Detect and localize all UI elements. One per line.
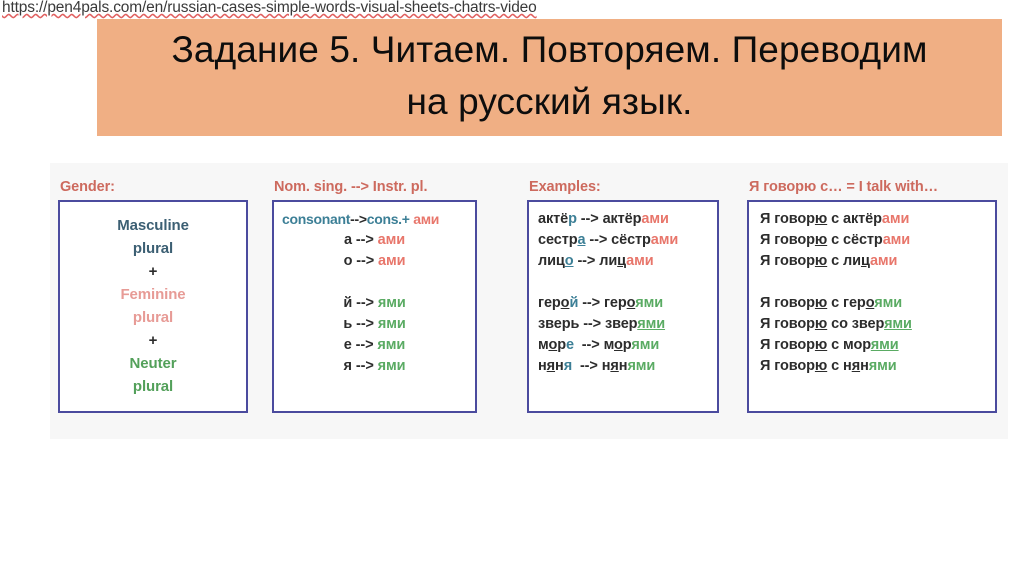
- example-row: актёр --> актёрами: [538, 209, 709, 230]
- gender-row: plural: [68, 237, 238, 260]
- sentence-noun-ending: ями: [884, 316, 912, 332]
- example-plural-stem: мор: [604, 337, 632, 353]
- example-arrow: -->: [580, 358, 598, 374]
- sentence-verb-stem: Я говор: [760, 232, 815, 248]
- sentence-verb-stem: Я говор: [760, 295, 815, 311]
- sentence-noun-ending: ями: [874, 295, 902, 311]
- grammar-columns: Gender: Masculine plural + Feminine plur…: [50, 163, 1008, 439]
- sentence-noun-stem: нян: [843, 358, 869, 374]
- example-row: герой --> героями: [538, 293, 709, 314]
- sentence-verb-ending: ю: [815, 358, 827, 374]
- ending-rule-spacer: [282, 272, 467, 293]
- sentence-noun-ending: ами: [883, 232, 910, 248]
- column-examples: Examples: актёр --> актёрами сестра --> …: [527, 179, 719, 413]
- sentence-row: Я говорю с сёстрами: [760, 230, 987, 251]
- sentence-noun-stem: лиц: [843, 253, 870, 269]
- example-singular-stem: актё: [538, 211, 568, 227]
- sentence-verb-stem: Я говор: [760, 253, 815, 269]
- ending-rule-arrow: -->: [356, 232, 374, 248]
- sentence-verb-ending: ю: [815, 316, 827, 332]
- example-plural-stem: геро: [604, 295, 635, 311]
- column-endings-header: Nom. sing. --> Instr. pl.: [272, 179, 477, 195]
- gender-row: Masculine: [68, 214, 238, 237]
- ending-rule-arrow: -->: [356, 295, 374, 311]
- example-singular-ending: о: [565, 253, 574, 269]
- ending-rule-row: а --> ами: [282, 230, 467, 251]
- ending-rule-arrow: -->: [350, 211, 367, 227]
- column-gender: Gender: Masculine plural + Feminine plur…: [58, 179, 248, 413]
- column-endings: Nom. sing. --> Instr. pl. consonant-->co…: [272, 179, 477, 413]
- column-endings-box: consonant-->cons.+ ами а --> ами о --> а…: [272, 200, 477, 413]
- ending-rule-ending: ями: [378, 358, 406, 374]
- ending-rule-arrow: -->: [356, 337, 374, 353]
- sentence-verb-stem: Я говор: [760, 358, 815, 374]
- page-url-text[interactable]: https://pen4pals.com/en/russian-cases-si…: [2, 0, 537, 17]
- sentence-noun-stem: сёстр: [843, 232, 883, 248]
- ending-rule-row: я --> ями: [282, 356, 467, 377]
- sentence-noun-stem: актёр: [843, 211, 882, 227]
- example-plural-ending: ями: [631, 337, 659, 353]
- slide-title-line-1: Задание 5. Читаем. Повторяем. Переводим: [171, 24, 927, 75]
- sentence-preposition: с: [827, 232, 843, 248]
- gender-row: plural: [68, 375, 238, 398]
- ending-rule-row: е --> ями: [282, 335, 467, 356]
- example-plural-ending: ями: [635, 295, 663, 311]
- ending-rule-ending: ями: [377, 337, 405, 353]
- gender-row: Feminine: [68, 283, 238, 306]
- column-sentences-header: Я говорю с… = I talk with…: [747, 179, 997, 195]
- example-singular-ending: я: [564, 358, 572, 374]
- gender-row: Neuter: [68, 352, 238, 375]
- ending-rule-ending: ями: [378, 316, 406, 332]
- example-singular-ending: е: [566, 337, 574, 353]
- example-arrow: -->: [589, 232, 607, 248]
- ending-rule-ending: ами: [378, 253, 405, 269]
- example-plural-stem: звер: [605, 316, 637, 332]
- sentence-noun-ending: ями: [869, 358, 897, 374]
- example-plural-ending: ями: [627, 358, 655, 374]
- example-plural-ending: ами: [651, 232, 678, 248]
- example-singular-stem: геро: [538, 295, 569, 311]
- example-plural-stem: нян: [602, 358, 628, 374]
- sentence-preposition: с: [827, 211, 843, 227]
- sentence-preposition: с: [827, 358, 843, 374]
- ending-rule-arrow: -->: [356, 358, 374, 374]
- column-examples-box: актёр --> актёрами сестра --> сёстрами л…: [527, 200, 719, 413]
- sentence-noun-ending: ами: [882, 211, 909, 227]
- ending-rule-stem: consonant: [282, 211, 350, 227]
- sentence-noun-ending: ями: [871, 337, 899, 353]
- ending-rule-stem: ь: [343, 316, 352, 332]
- sentence-noun-stem: геро: [843, 295, 874, 311]
- sentence-noun-stem: звер: [852, 316, 884, 332]
- sentence-row: Я говорю с лицами: [760, 251, 987, 272]
- grammar-sheet-panel: Gender: Masculine plural + Feminine plur…: [50, 163, 1008, 439]
- sentence-verb-stem: Я говор: [760, 316, 815, 332]
- example-arrow: -->: [582, 295, 600, 311]
- ending-rule-stem: е: [344, 337, 352, 353]
- ending-rule-stem: а: [344, 232, 352, 248]
- ending-rule-arrow: -->: [356, 316, 374, 332]
- slide-title-banner: Задание 5. Читаем. Повторяем. Переводим …: [97, 19, 1002, 136]
- sentence-noun-stem: мор: [843, 337, 871, 353]
- column-sentences: Я говорю с… = I talk with… Я говорю с ак…: [747, 179, 997, 413]
- sentence-verb-stem: Я говор: [760, 337, 815, 353]
- sentence-row: Я говорю с морями: [760, 335, 987, 356]
- example-row: няня --> нянями: [538, 356, 709, 377]
- sentence-row: Я говорю с героями: [760, 293, 987, 314]
- ending-rule-arrow: -->: [356, 253, 374, 269]
- sentence-verb-stem: Я говор: [760, 211, 815, 227]
- sentence-verb-ending: ю: [815, 295, 827, 311]
- example-singular-stem: нян: [538, 358, 564, 374]
- example-row: зверь --> зверями: [538, 314, 709, 335]
- sentence-row: Я говорю с актёрами: [760, 209, 987, 230]
- ending-rule-stem: й: [343, 295, 352, 311]
- example-arrow: -->: [577, 253, 595, 269]
- example-arrow: -->: [582, 337, 600, 353]
- sentence-preposition: со: [827, 316, 852, 332]
- column-gender-box: Masculine plural + Feminine plural + Neu…: [58, 200, 248, 413]
- example-singular-stem: зверь: [538, 316, 579, 332]
- sentence-verb-ending: ю: [815, 253, 827, 269]
- example-row: сестра --> сёстрами: [538, 230, 709, 251]
- example-spacer: [538, 272, 709, 293]
- example-plural-stem: лиц: [599, 253, 626, 269]
- sentence-preposition: с: [827, 337, 843, 353]
- example-plural-ending: ами: [626, 253, 653, 269]
- example-plural-ending: ями: [637, 316, 665, 332]
- column-gender-header: Gender:: [58, 179, 248, 195]
- example-row: море --> морями: [538, 335, 709, 356]
- sentence-row: Я говорю с нянями: [760, 356, 987, 377]
- example-arrow: -->: [581, 211, 599, 227]
- example-arrow: -->: [583, 316, 601, 332]
- ending-rule-row: consonant-->cons.+ ами: [282, 209, 467, 230]
- column-examples-header: Examples:: [527, 179, 719, 195]
- sentence-verb-ending: ю: [815, 337, 827, 353]
- gender-row-plus: +: [68, 260, 238, 283]
- sentence-noun-ending: ами: [870, 253, 897, 269]
- ending-rule-ending: ами: [413, 211, 439, 227]
- sentence-row: Я говорю со зверями: [760, 314, 987, 335]
- example-plural-stem: актёр: [603, 211, 642, 227]
- ending-rule-result: cons.+: [367, 211, 414, 227]
- gender-row-plus: +: [68, 329, 238, 352]
- sentence-verb-ending: ю: [815, 211, 827, 227]
- ending-rule-ending: ями: [378, 295, 406, 311]
- sentence-preposition: с: [827, 253, 843, 269]
- example-singular-ending: а: [577, 232, 585, 248]
- ending-rule-row: й --> ями: [282, 293, 467, 314]
- column-sentences-box: Я говорю с актёрами Я говорю с сёстрами …: [747, 200, 997, 413]
- ending-rule-row: о --> ами: [282, 251, 467, 272]
- example-row: лицо --> лицами: [538, 251, 709, 272]
- sentence-spacer: [760, 272, 987, 293]
- slide-title-line-2: на русский язык.: [406, 76, 692, 127]
- sentence-verb-ending: ю: [815, 232, 827, 248]
- example-singular-stem: лиц: [538, 253, 565, 269]
- sentence-preposition: с: [827, 295, 843, 311]
- ending-rule-ending: ами: [378, 232, 405, 248]
- ending-rule-stem: о: [344, 253, 353, 269]
- example-singular-ending: р: [568, 211, 577, 227]
- example-plural-stem: сёстр: [611, 232, 651, 248]
- example-singular-ending: й: [569, 295, 578, 311]
- ending-rule-stem: я: [344, 358, 352, 374]
- gender-row: plural: [68, 306, 238, 329]
- example-plural-ending: ами: [641, 211, 668, 227]
- example-singular-stem: мор: [538, 337, 566, 353]
- example-singular-stem: сестр: [538, 232, 577, 248]
- ending-rule-row: ь --> ями: [282, 314, 467, 335]
